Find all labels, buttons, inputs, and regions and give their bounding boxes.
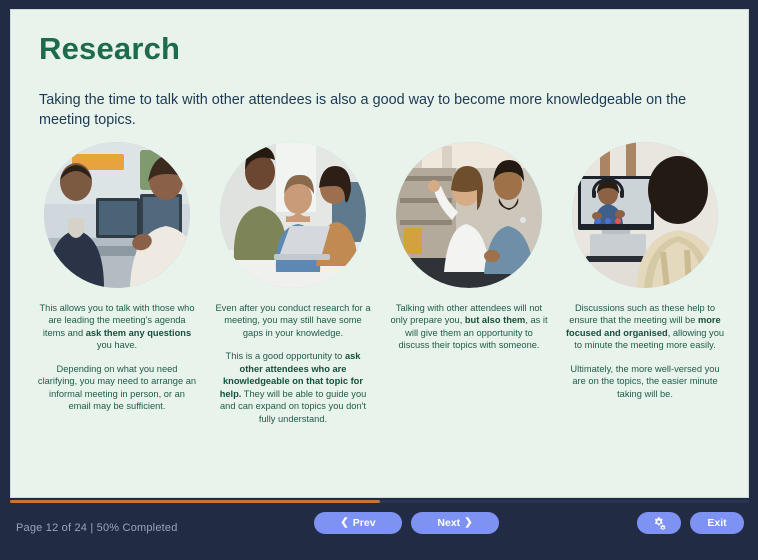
column-paragraph: Even after you conduct research for a me…	[213, 302, 373, 339]
utility-buttons: Exit	[637, 512, 744, 534]
next-button[interactable]: Next ❯	[411, 512, 499, 534]
body-text: you have.	[97, 340, 137, 350]
column-paragraph: This is a good opportunity to ask other …	[213, 350, 373, 425]
video-call-on-monitor-photo	[572, 142, 718, 288]
gears-icon	[652, 516, 666, 530]
content-column: Talking with other attendees will not on…	[385, 142, 553, 425]
body-text: Depending on what you need clarifying, y…	[38, 364, 196, 411]
body-text: Ultimately, the more well-versed you are…	[570, 364, 719, 399]
column-body-text: Even after you conduct research for a me…	[213, 302, 373, 425]
column-paragraph: This allows you to talk with those who a…	[37, 302, 197, 352]
exit-button[interactable]: Exit	[690, 512, 744, 534]
column-body-text: This allows you to talk with those who a…	[37, 302, 197, 413]
emphasis-text: ask them any questions	[86, 328, 191, 338]
two-colleagues-talking-at-desk-photo	[44, 142, 190, 288]
slide-subtitle: Taking the time to talk with other atten…	[39, 91, 715, 131]
column-paragraph: Depending on what you need clarifying, y…	[37, 363, 197, 413]
exit-button-label: Exit	[707, 517, 726, 529]
content-column: Even after you conduct research for a me…	[209, 142, 377, 425]
content-columns: This allows you to talk with those who a…	[33, 142, 729, 425]
body-text: Even after you conduct research for a me…	[215, 303, 370, 338]
navigation-buttons: ❮ Prev Next ❯	[314, 512, 499, 534]
settings-button[interactable]	[637, 512, 681, 534]
column-body-text: Discussions such as these help to ensure…	[565, 302, 725, 400]
body-text: Discussions such as these help to ensure…	[569, 303, 715, 325]
next-button-label: Next	[437, 517, 460, 529]
three-colleagues-around-laptop-photo	[220, 142, 366, 288]
column-body-text: Talking with other attendees will not on…	[389, 302, 549, 352]
chevron-left-icon: ❮	[340, 518, 348, 528]
slide-canvas: Research Taking the time to talk with ot…	[10, 9, 749, 498]
page-status-text: Page 12 of 24 | 50% Completed	[16, 522, 178, 534]
column-paragraph: Ultimately, the more well-versed you are…	[565, 363, 725, 400]
body-text: They will be able to guide you and can e…	[220, 389, 366, 424]
body-text: This is a good opportunity to	[226, 351, 345, 361]
column-paragraph: Discussions such as these help to ensure…	[565, 302, 725, 352]
content-column: This allows you to talk with those who a…	[33, 142, 201, 425]
prev-button[interactable]: ❮ Prev	[314, 512, 402, 534]
progress-bar-track	[10, 500, 749, 503]
page-title: Research	[39, 31, 180, 67]
warehouse-colleagues-discussing-photo	[396, 142, 542, 288]
chevron-right-icon: ❯	[464, 518, 472, 528]
content-column: Discussions such as these help to ensure…	[561, 142, 729, 425]
column-paragraph: Talking with other attendees will not on…	[389, 302, 549, 352]
prev-button-label: Prev	[353, 517, 376, 529]
progress-bar-fill	[10, 500, 380, 503]
emphasis-text: but also them	[465, 315, 525, 325]
